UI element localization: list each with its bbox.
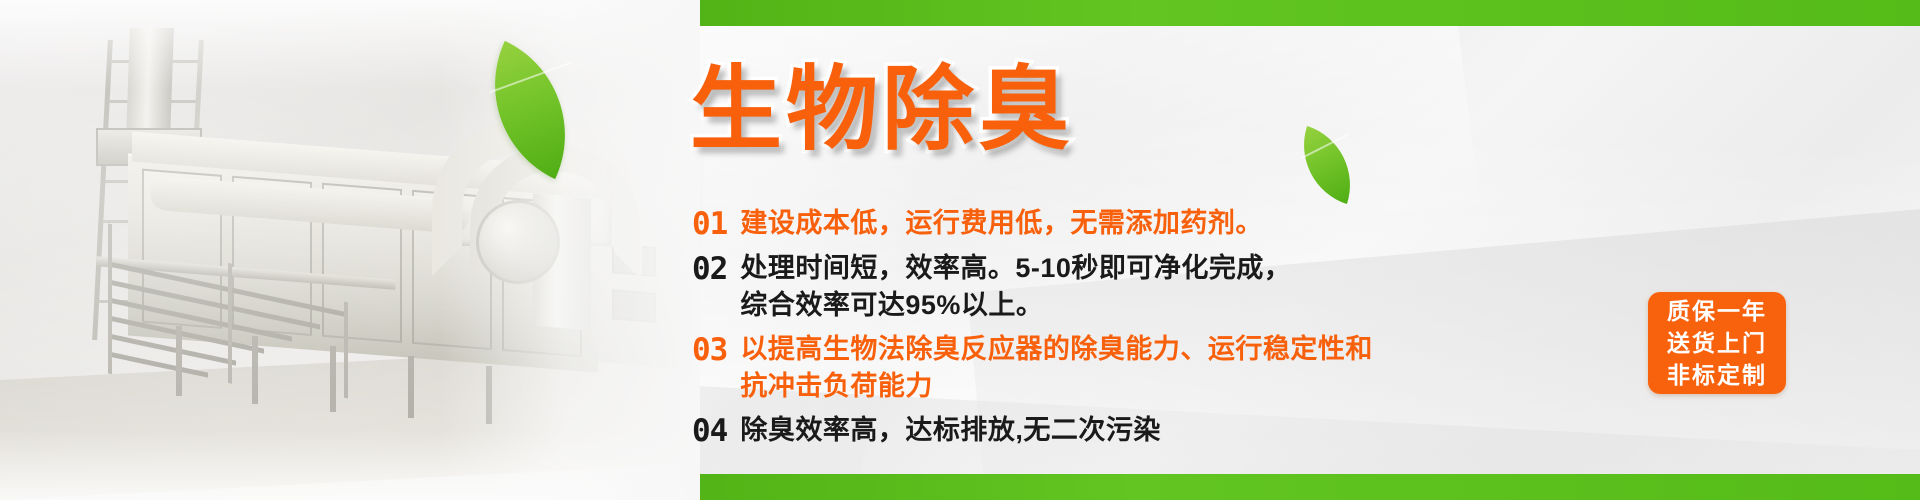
badge-line-delivery: 送货上门 (1667, 327, 1767, 359)
feature-number: 03 (692, 331, 727, 369)
guarantee-badge: 质保一年 送货上门 非标定制 (1648, 292, 1786, 394)
feature-number: 04 (692, 412, 727, 450)
feature-list: 01 建设成本低，运行费用低，无需添加药剂。 02 处理时间短，效率高。5-10… (692, 205, 1622, 457)
feature-text: 建设成本低，运行费用低，无需添加药剂。 (740, 205, 1263, 242)
feature-number: 02 (692, 250, 727, 288)
feature-item-02: 02 处理时间短，效率高。5-10秒即可净化完成， 综合效率可达95%以上。 (692, 250, 1622, 324)
banner-title: 生物除臭 (690, 64, 1074, 156)
feature-text: 处理时间短，效率高。5-10秒即可净化完成， 综合效率可达95%以上。 (740, 250, 1291, 324)
feature-number: 01 (692, 205, 727, 243)
feature-item-04: 04 除臭效率高，达标排放,无二次污染 (692, 412, 1622, 450)
promo-banner: 生物除臭 01 建设成本低，运行费用低，无需添加药剂。 02 处理时间短，效率高… (0, 0, 1920, 500)
photo-highlight (0, 0, 700, 500)
banner-content: 生物除臭 01 建设成本低，运行费用低，无需添加药剂。 02 处理时间短，效率高… (690, 0, 1620, 500)
feature-text: 以提高生物法除臭反应器的除臭能力、运行稳定性和 抗冲击负荷能力 (740, 331, 1373, 405)
badge-line-warranty: 质保一年 (1667, 295, 1767, 327)
badge-line-custom: 非标定制 (1667, 359, 1767, 391)
feature-item-03: 03 以提高生物法除臭反应器的除臭能力、运行稳定性和 抗冲击负荷能力 (692, 331, 1622, 405)
feature-text: 除臭效率高，达标排放,无二次污染 (740, 412, 1161, 449)
equipment-photo (0, 0, 700, 500)
feature-item-01: 01 建设成本低，运行费用低，无需添加药剂。 (692, 205, 1622, 243)
